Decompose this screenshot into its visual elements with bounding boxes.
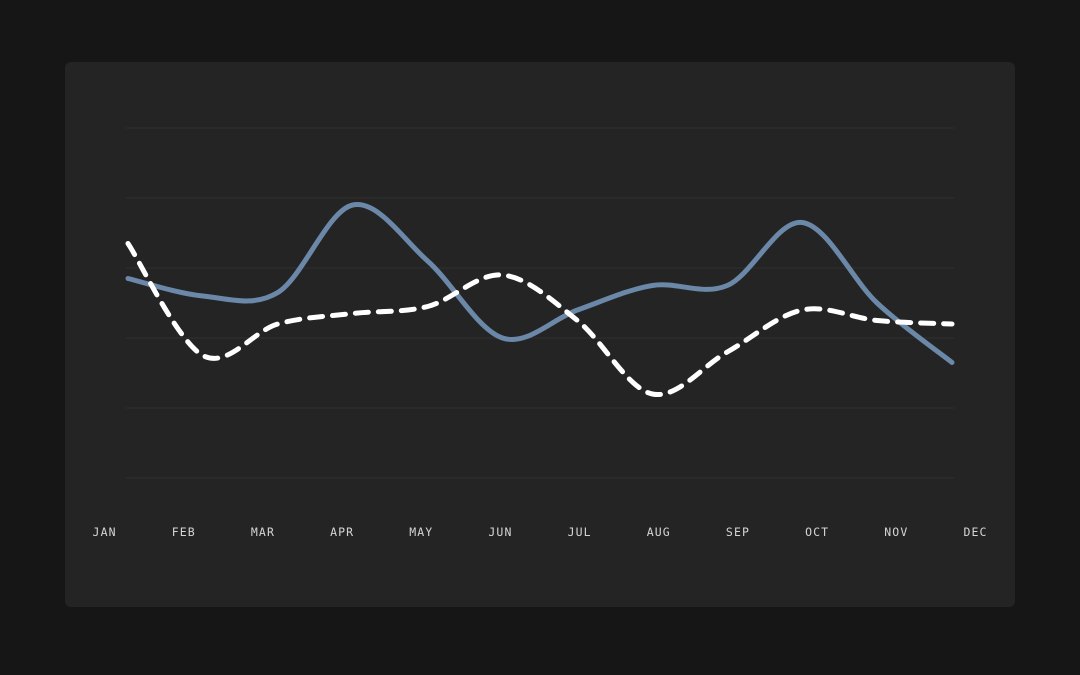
x-tick-mar: MAR (223, 525, 302, 539)
x-tick-dec: DEC (936, 525, 1015, 539)
x-tick-oct: OCT (778, 525, 857, 539)
series-group (128, 205, 952, 395)
series-line-2 (128, 244, 952, 395)
chart-card: JANFEBMARAPRMAYJUNJULAUGSEPOCTNOVDEC (65, 62, 1015, 607)
x-tick-jun: JUN (461, 525, 540, 539)
x-tick-apr: APR (303, 525, 382, 539)
x-tick-nov: NOV (857, 525, 936, 539)
x-tick-aug: AUG (619, 525, 698, 539)
x-tick-sep: SEP (698, 525, 777, 539)
x-tick-jan: JAN (65, 525, 144, 539)
x-tick-may: MAY (382, 525, 461, 539)
page-root: JANFEBMARAPRMAYJUNJULAUGSEPOCTNOVDEC (0, 0, 1080, 675)
x-tick-feb: FEB (144, 525, 223, 539)
x-tick-jul: JUL (540, 525, 619, 539)
x-axis-labels: JANFEBMARAPRMAYJUNJULAUGSEPOCTNOVDEC (65, 512, 1015, 552)
